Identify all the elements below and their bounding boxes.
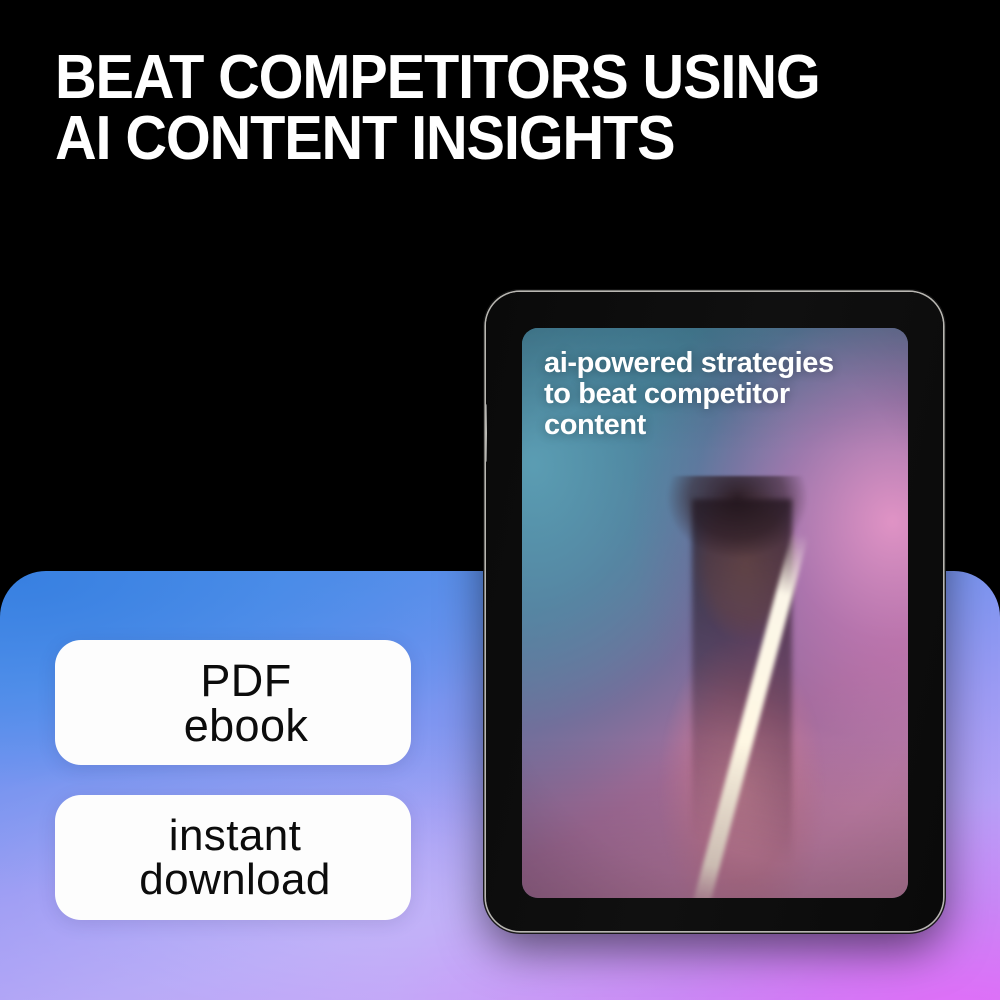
tablet-device: ai-powered strategies to beat competitor…	[486, 292, 943, 931]
badge-pdf-ebook-label: PDF ebook	[158, 658, 309, 748]
badge-pdf-ebook[interactable]: PDF ebook	[55, 640, 411, 765]
badge-instant-download-label: instant download	[135, 814, 331, 902]
page-title: BEAT COMPETITORS USING AI CONTENT INSIGH…	[55, 48, 873, 170]
screen-overlay-headline: ai-powered strategies to beat competitor…	[544, 348, 874, 441]
poster-canvas: BEAT COMPETITORS USING AI CONTENT INSIGH…	[0, 0, 1000, 1000]
screen-subject-shadow	[692, 499, 792, 887]
tablet-volume-button[interactable]	[486, 404, 487, 462]
badge-instant-download[interactable]: instant download	[55, 795, 411, 920]
tablet-screen[interactable]: ai-powered strategies to beat competitor…	[522, 328, 908, 898]
